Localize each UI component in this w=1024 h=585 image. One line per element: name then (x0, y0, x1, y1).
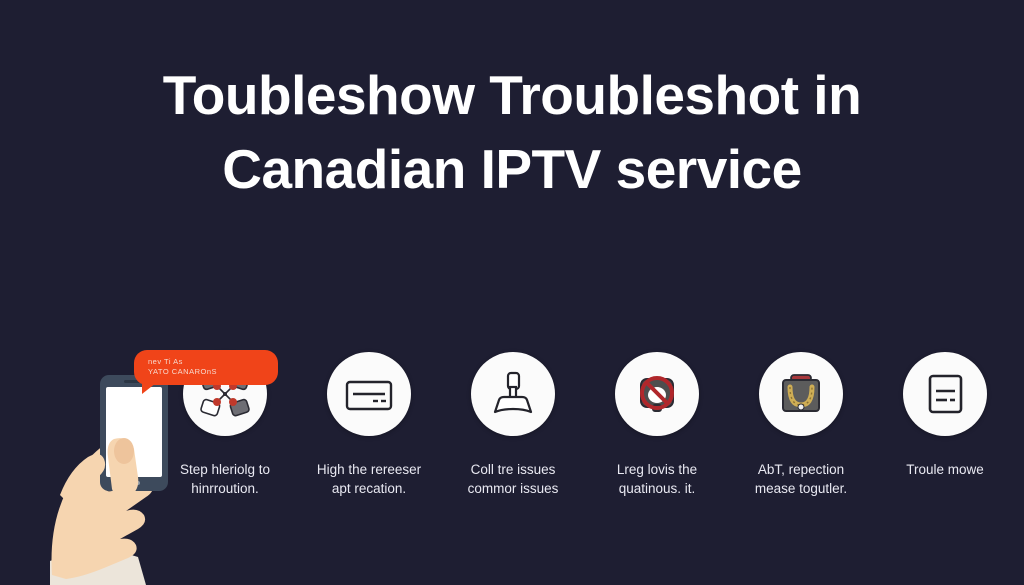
step-item-4[interactable]: Lreg lovis the quatinous. it. (592, 352, 722, 498)
step-item-5[interactable]: AbT, repection mease togutler. (736, 352, 866, 498)
step-caption-6-line1: Troule mowe (906, 462, 984, 477)
step-circle-4 (615, 352, 699, 436)
step-caption-5: AbT, repection mease togutler. (736, 460, 866, 498)
step-caption-5-line1: AbT, repection (758, 462, 844, 477)
step-circle-6 (903, 352, 987, 436)
step-caption-2: High the rereeser apt recation. (304, 460, 434, 498)
step-caption-1-line1: Step hleriolg to (180, 462, 270, 477)
step-caption-4-line1: Lreg lovis the (617, 462, 697, 477)
step-caption-2-line1: High the rereeser (317, 462, 421, 477)
bubble-line-1: nev Ti As (148, 357, 270, 367)
step-caption-3-line1: Coll tre issues (471, 462, 556, 477)
banner: Toubleshow Troubleshot in Canadian IPTV … (0, 0, 1024, 585)
step-caption-3-line2: commor issues (468, 481, 559, 496)
step-circle-5 (759, 352, 843, 436)
step-item-1[interactable]: nev Ti As YATO CANAROnS (160, 352, 290, 498)
step-caption-1-line2: hinrroution. (191, 481, 259, 496)
step-circle-2 (327, 352, 411, 436)
page-title: Toubleshow Troubleshot in Canadian IPTV … (0, 58, 1024, 206)
step-caption-4-line2: quatinous. it. (619, 481, 696, 496)
step-caption-6: Troule mowe (880, 460, 1010, 479)
step-circle-3 (471, 352, 555, 436)
credit-card-icon (342, 367, 396, 421)
step-caption-1: Step hleriolg to hinrroution. (160, 460, 290, 498)
title-line-1: Toubleshow Troubleshot in (0, 58, 1024, 132)
toolbox-case-icon (774, 367, 828, 421)
step-caption-2-line2: apt recation. (332, 481, 406, 496)
step-item-6[interactable]: Troule mowe (880, 352, 1010, 479)
speech-bubble: nev Ti As YATO CANAROnS (134, 350, 278, 385)
step-item-2[interactable]: High the rereeser apt recation. (304, 352, 434, 498)
document-lines-icon (918, 367, 972, 421)
bubble-line-2: YATO CANAROnS (148, 367, 270, 377)
steps-row: nev Ti As YATO CANAROnS (160, 352, 1010, 552)
step-caption-3: Coll tre issues commor issues (448, 460, 578, 498)
no-signal-prohibited-icon (630, 367, 684, 421)
step-caption-4: Lreg lovis the quatinous. it. (592, 460, 722, 498)
joystick-lever-icon (486, 367, 540, 421)
step-caption-5-line2: mease togutler. (755, 481, 847, 496)
title-line-2: Canadian IPTV service (0, 132, 1024, 206)
fingertip (114, 438, 134, 464)
step-item-3[interactable]: Coll tre issues commor issues (448, 352, 578, 498)
